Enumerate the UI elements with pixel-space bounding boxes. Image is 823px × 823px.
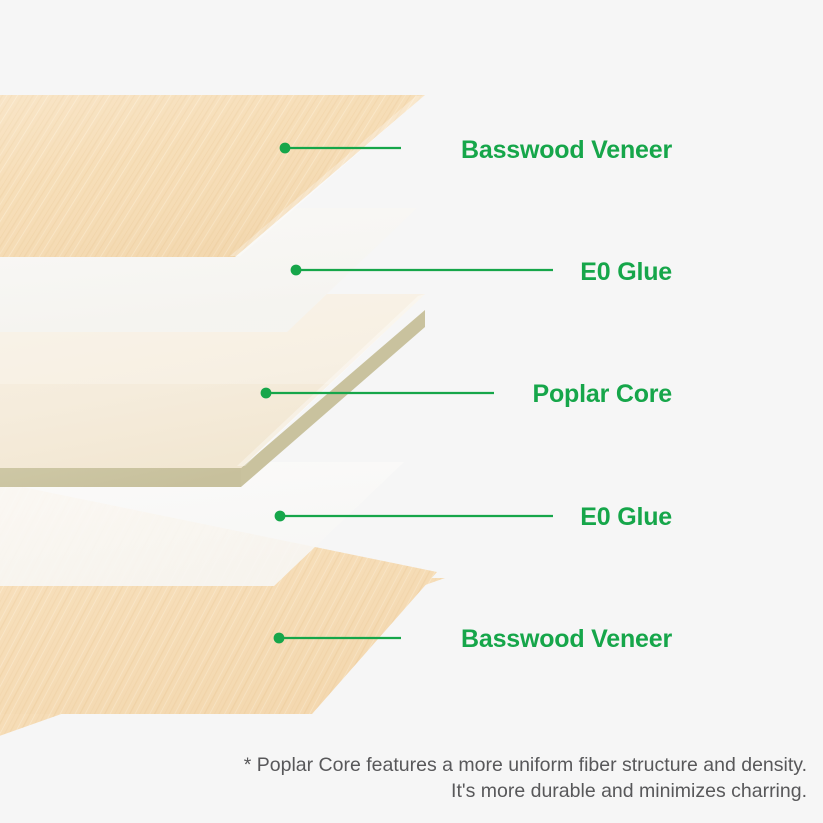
footnote-line-2: It's more durable and minimizes charring…: [0, 778, 807, 804]
label-bottom-veneer: Basswood Veneer: [461, 625, 672, 654]
diagram-canvas: Basswood Veneer E0 Glue Poplar Core E0 G…: [0, 0, 823, 823]
footnote-line-1: * Poplar Core features a more uniform fi…: [0, 752, 807, 778]
label-top-glue: E0 Glue: [580, 258, 672, 287]
label-poplar-core: Poplar Core: [533, 380, 673, 409]
plywood-exploded-diagram: [0, 0, 823, 823]
label-bottom-glue: E0 Glue: [580, 503, 672, 532]
label-top-veneer: Basswood Veneer: [461, 136, 672, 165]
footnote: * Poplar Core features a more uniform fi…: [0, 752, 807, 804]
